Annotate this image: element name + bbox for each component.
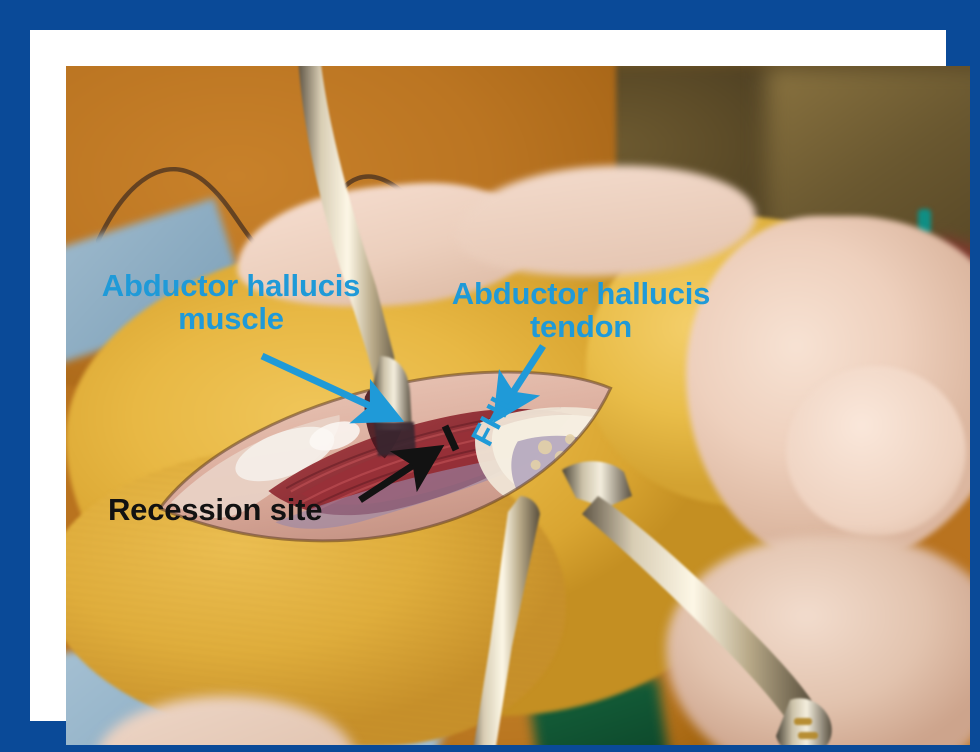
figure-frame: Abductor hallucis muscle Abductor halluc… <box>0 0 980 752</box>
label-abductor-hallucis-tendon: Abductor hallucis tendon <box>416 278 746 344</box>
arrow-recession-site <box>360 451 435 500</box>
arrow-abductor-hallucis-muscle <box>262 356 394 417</box>
surgical-photograph: Abductor hallucis muscle Abductor halluc… <box>66 66 970 745</box>
tick-recession-site <box>445 426 456 450</box>
photo-mat: Abductor hallucis muscle Abductor halluc… <box>30 30 946 721</box>
label-recession-site: Recession site <box>108 494 322 527</box>
label-abductor-hallucis-muscle: Abductor hallucis muscle <box>76 270 386 336</box>
